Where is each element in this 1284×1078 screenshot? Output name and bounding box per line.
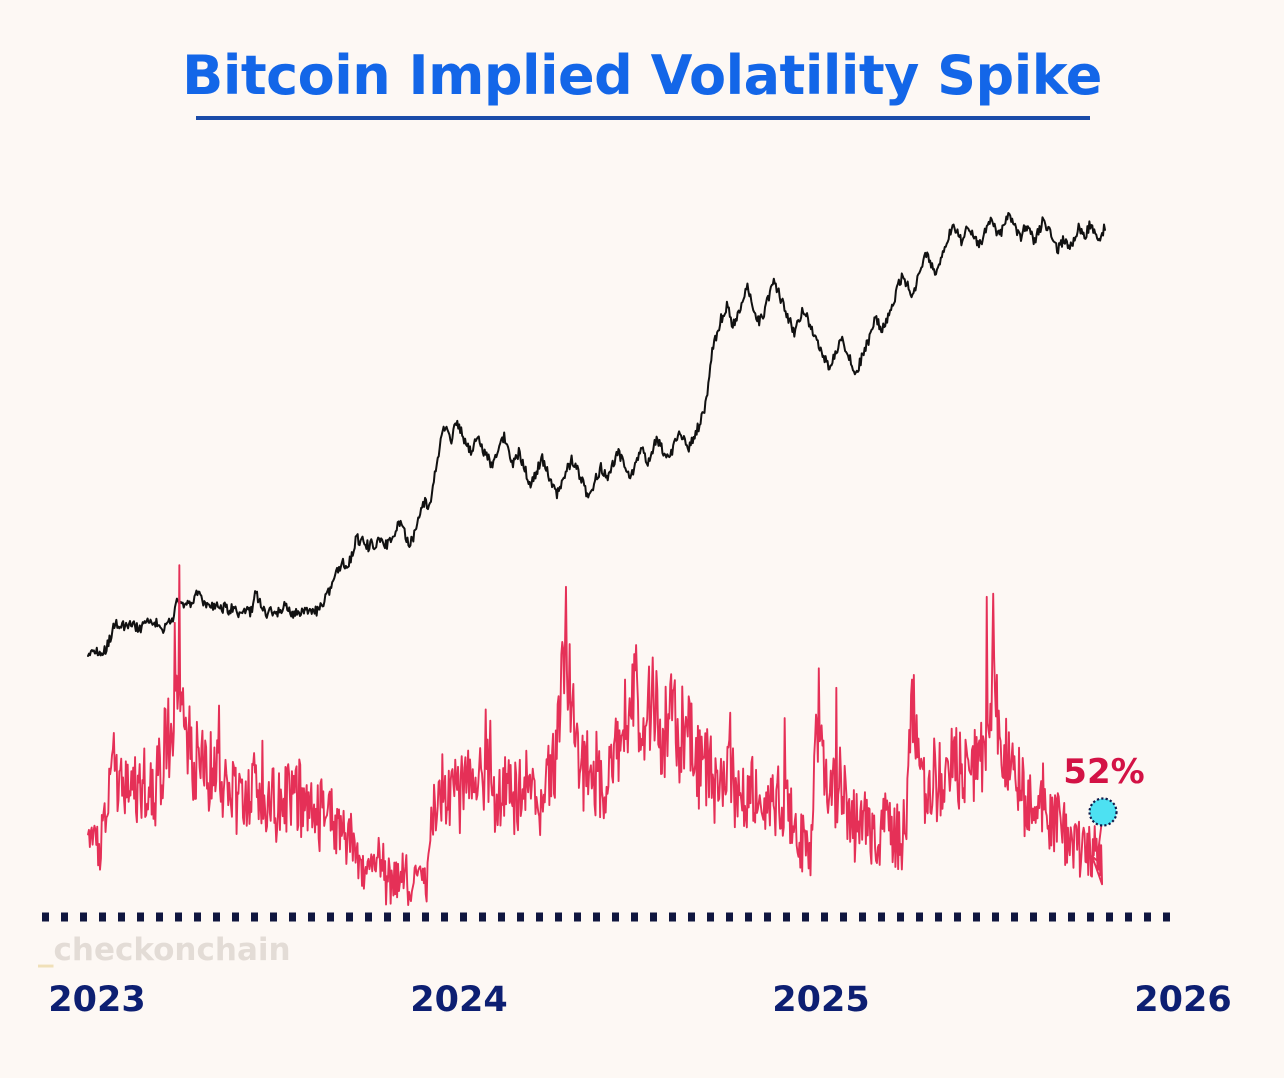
latest-value-label: 52% (1048, 752, 1160, 792)
x-axis-tick-2024: 2024 (389, 980, 529, 1020)
watermark-name: checkonchain (54, 932, 291, 968)
x-axis-tick-2023: 2023 (27, 980, 167, 1020)
x-axis-tick-2026: 2026 (1113, 980, 1253, 1020)
chart-plot-area (0, 0, 1284, 1078)
price-line-series (88, 213, 1105, 656)
x-axis-tick-2025: 2025 (751, 980, 891, 1020)
watermark: _checkonchain (38, 932, 291, 968)
volatility-line-series (88, 565, 1103, 905)
watermark-underscore: _ (38, 932, 54, 968)
latest-value-marker[interactable] (1090, 799, 1117, 826)
chart-root: Bitcoin Implied Volatility Spike 52% _ch… (0, 0, 1284, 1078)
